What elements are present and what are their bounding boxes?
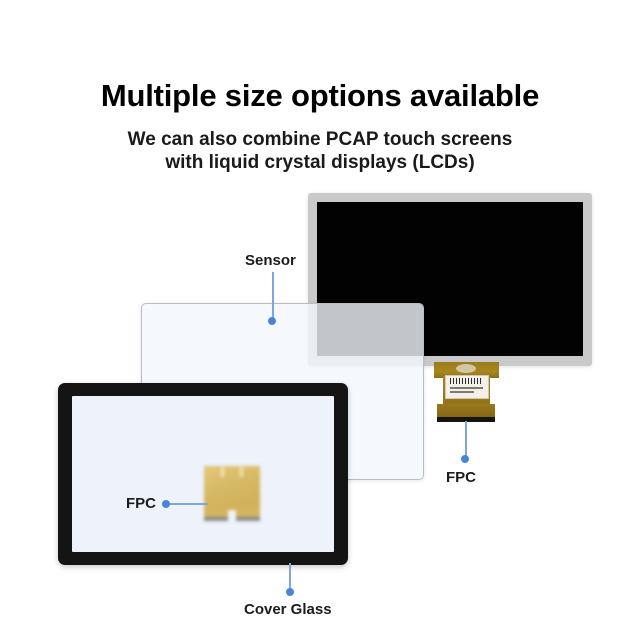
cover-fpc-foot-right	[236, 517, 260, 521]
sticker-text-line-1	[450, 387, 483, 389]
fpc-cover-leader-dot	[162, 500, 170, 508]
callout-label-fpc-lcd: FPC	[446, 469, 476, 486]
diagram-canvas: Multiple size options available We can a…	[0, 0, 640, 640]
sensor-leader-dot	[268, 317, 276, 325]
cover-fpc-pin-left	[221, 467, 224, 477]
barcode-icon	[450, 378, 483, 384]
page-subtitle-line2: with liquid crystal displays (LCDs)	[0, 152, 640, 174]
sticker-text-line-2	[450, 391, 474, 393]
sensor-leader-line	[272, 272, 274, 320]
cover-flex-cable	[204, 466, 260, 524]
cover-fpc-pin-right	[240, 467, 243, 477]
lcd-flex-cable	[434, 362, 499, 424]
callout-label-cover-glass: Cover Glass	[244, 601, 332, 618]
cover-glass-leader-dot	[286, 588, 294, 596]
cover-fpc-foot-left	[204, 517, 228, 521]
fpc-lcd-leader-line	[465, 421, 467, 459]
page-title: Multiple size options available	[0, 78, 640, 114]
fpc-label-sticker	[445, 375, 489, 399]
fpc-cover-leader-line	[166, 503, 208, 505]
cover-fpc-body	[204, 466, 260, 510]
callout-label-sensor: Sensor	[245, 252, 296, 269]
cover-glass-view-area	[72, 396, 334, 552]
fpc-lcd-leader-dot	[461, 455, 469, 463]
callout-label-fpc-cover: FPC	[126, 495, 156, 512]
fpc-bottom-section	[437, 404, 495, 418]
fpc-logo-icon	[456, 364, 476, 373]
page-subtitle-line1: We can also combine PCAP touch screens	[0, 129, 640, 151]
cover-glass-layer	[58, 383, 348, 565]
